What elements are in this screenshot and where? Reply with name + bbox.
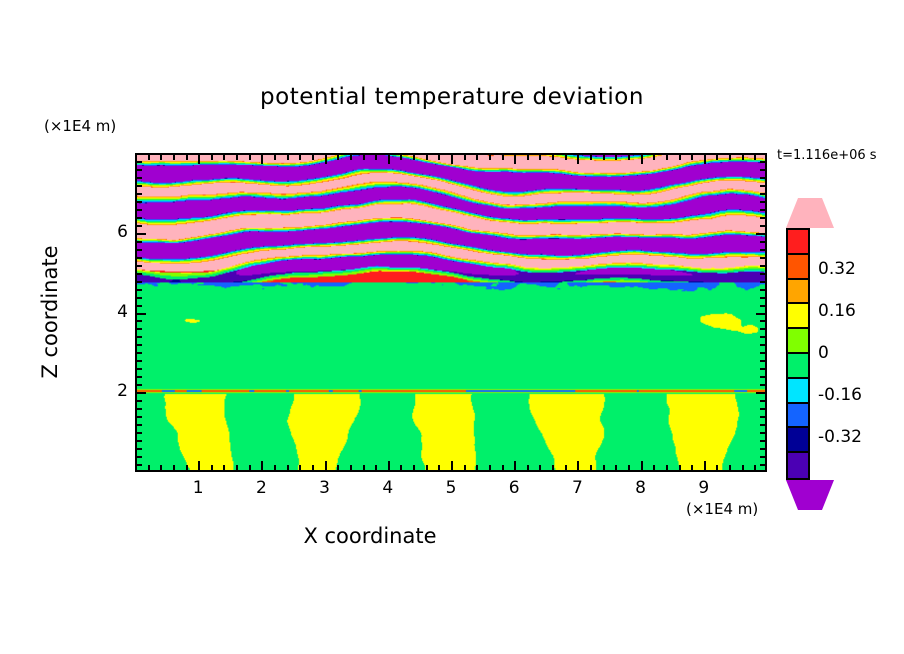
x-tick-top: [679, 155, 681, 160]
x-tick: [666, 465, 668, 470]
y-tick-right: [760, 360, 765, 362]
x-tick: [502, 465, 504, 470]
x-tick: [464, 465, 466, 470]
x-tick: [325, 461, 327, 470]
x-tick: [552, 465, 554, 470]
x-tick-top: [603, 155, 605, 160]
x-tick: [691, 465, 693, 470]
x-tick-top: [514, 155, 516, 164]
x-tick: [716, 465, 718, 470]
x-tick: [160, 465, 162, 470]
x-tick: [539, 465, 541, 470]
y-tick: [137, 416, 142, 418]
y-tick: [137, 225, 142, 227]
x-tick-label: 2: [241, 478, 281, 498]
y-tick-right: [760, 225, 765, 227]
x-tick: [274, 465, 276, 470]
page-title: potential temperature deviation: [0, 84, 904, 110]
y-tick-right: [760, 352, 765, 354]
x-tick: [148, 465, 150, 470]
y-tick-right: [760, 241, 765, 243]
x-tick-top: [148, 155, 150, 160]
colorbar-over-arrow: [786, 198, 834, 228]
y-tick-right: [760, 265, 765, 267]
y-tick: [137, 281, 142, 283]
y-tick: [137, 217, 142, 219]
x-tick-top: [552, 155, 554, 160]
x-tick: [236, 465, 238, 470]
x-tick-top: [489, 155, 491, 160]
x-tick-top: [299, 155, 301, 160]
y-tick-right: [760, 161, 765, 163]
x-tick-top: [363, 155, 365, 160]
y-tick: [137, 209, 142, 211]
x-tick: [590, 465, 592, 470]
contour-plot-area: [135, 153, 767, 472]
x-tick-top: [438, 155, 440, 160]
x-tick: [577, 461, 579, 470]
time-annotation: t=1.116e+06 s: [777, 148, 877, 163]
colorbar-band: [788, 379, 808, 404]
colorbar-under-arrow: [786, 480, 834, 510]
x-tick-top: [160, 155, 162, 160]
y-tick: [137, 161, 142, 163]
x-tick-top: [527, 155, 529, 160]
x-tick-label: 4: [368, 478, 408, 498]
x-tick: [641, 461, 643, 470]
x-tick-top: [666, 155, 668, 160]
x-tick-top: [754, 155, 756, 160]
y-tick: [137, 440, 142, 442]
y-tick: [137, 313, 146, 315]
x-tick-top: [186, 155, 188, 160]
y-tick: [137, 241, 142, 243]
y-tick: [137, 185, 142, 187]
y-tick: [137, 432, 142, 434]
x-tick-top: [198, 155, 200, 164]
y-tick: [137, 360, 142, 362]
x-tick-top: [375, 155, 377, 160]
x-tick: [729, 465, 731, 470]
y-tick: [137, 320, 142, 322]
x-tick: [375, 465, 377, 470]
x-tick-top: [641, 155, 643, 164]
x-tick-top: [464, 155, 466, 160]
colorbar-tick-label: 0.32: [818, 259, 856, 279]
y-tick-right: [760, 257, 765, 259]
x-tick-top: [223, 155, 225, 160]
y-tick-right: [760, 289, 765, 291]
y-tick-right: [760, 217, 765, 219]
y-tick: [137, 392, 146, 394]
y-tick-right: [760, 416, 765, 418]
colorbar-tick-label: 0: [818, 343, 829, 363]
y-tick: [137, 233, 146, 235]
y-tick: [137, 265, 142, 267]
colorbar-tick-label: 0.16: [818, 301, 856, 321]
x-tick: [438, 465, 440, 470]
y-tick: [137, 408, 142, 410]
x-tick-top: [337, 155, 339, 160]
colorbar-band: [788, 453, 808, 478]
colorbar-band: [788, 329, 808, 354]
y-tick-right: [760, 209, 765, 211]
y-tick-right: [760, 408, 765, 410]
x-tick-top: [476, 155, 478, 160]
y-tick-right: [760, 400, 765, 402]
x-tick: [476, 465, 478, 470]
y-tick: [137, 273, 142, 275]
y-tick-right: [760, 384, 765, 386]
x-tick-top: [742, 155, 744, 160]
x-tick-label: 3: [305, 478, 345, 498]
y-tick-right: [760, 464, 765, 466]
colorbar-band: [788, 255, 808, 280]
y-tick-right: [760, 177, 765, 179]
y-tick-right: [760, 424, 765, 426]
y-tick-right: [760, 456, 765, 458]
colorbar-band: [788, 230, 808, 255]
x-tick-top: [565, 155, 567, 160]
y-tick-right: [760, 376, 765, 378]
x-tick: [249, 465, 251, 470]
x-tick-top: [173, 155, 175, 160]
x-axis-title: X coordinate: [0, 524, 740, 548]
x-tick-top: [577, 155, 579, 164]
colorbar-band: [788, 428, 808, 453]
x-tick: [653, 465, 655, 470]
y-tick-right: [760, 273, 765, 275]
x-tick: [400, 465, 402, 470]
y-tick-right: [760, 344, 765, 346]
y-axis-title: Z coordinate: [38, 202, 62, 422]
x-tick: [754, 465, 756, 470]
x-tick: [173, 465, 175, 470]
x-tick: [679, 465, 681, 470]
y-tick-right: [760, 249, 765, 251]
x-tick: [451, 461, 453, 470]
y-tick-right: [756, 233, 765, 235]
x-tick-label: 5: [431, 478, 471, 498]
colorbar-band: [788, 354, 808, 379]
y-tick-right: [760, 336, 765, 338]
y-tick-right: [760, 440, 765, 442]
y-tick-right: [760, 169, 765, 171]
x-tick-top: [312, 155, 314, 160]
y-tick: [137, 193, 142, 195]
x-tick-top: [413, 155, 415, 160]
x-tick-label: 9: [684, 478, 724, 498]
x-tick-top: [388, 155, 390, 164]
x-tick: [628, 465, 630, 470]
x-tick: [603, 465, 605, 470]
x-tick: [388, 461, 390, 470]
x-tick: [413, 465, 415, 470]
y-tick-right: [756, 392, 765, 394]
y-tick-right: [760, 448, 765, 450]
x-axis-unit-label: (×1E4 m): [686, 500, 758, 518]
y-tick: [137, 384, 142, 386]
y-tick-label: 6: [88, 222, 128, 242]
x-tick: [211, 465, 213, 470]
y-tick-right: [760, 305, 765, 307]
colorbar-tick-label: -0.16: [818, 385, 862, 405]
y-tick-right: [760, 281, 765, 283]
x-tick-top: [400, 155, 402, 160]
x-tick: [527, 465, 529, 470]
y-tick: [137, 424, 142, 426]
y-tick: [137, 289, 142, 291]
x-tick: [350, 465, 352, 470]
temperature-deviation-field: [137, 155, 765, 470]
y-tick-right: [760, 320, 765, 322]
y-tick-label: 2: [88, 381, 128, 401]
x-tick: [489, 465, 491, 470]
y-tick: [137, 305, 142, 307]
x-tick-top: [653, 155, 655, 160]
colorbar-band: [788, 304, 808, 329]
y-tick: [137, 177, 142, 179]
y-tick-right: [760, 185, 765, 187]
y-tick: [137, 368, 142, 370]
x-tick: [742, 465, 744, 470]
x-tick: [704, 461, 706, 470]
y-tick: [137, 328, 142, 330]
y-tick: [137, 249, 142, 251]
x-tick-top: [261, 155, 263, 164]
x-tick-top: [211, 155, 213, 160]
x-tick-top: [249, 155, 251, 160]
x-tick-top: [274, 155, 276, 160]
x-tick-top: [426, 155, 428, 160]
x-tick: [514, 461, 516, 470]
colorbar-band: [788, 404, 808, 429]
colorbar: [786, 198, 810, 510]
x-tick-top: [236, 155, 238, 160]
y-tick: [137, 448, 142, 450]
x-tick-top: [451, 155, 453, 164]
x-tick-top: [590, 155, 592, 160]
y-tick: [137, 464, 142, 466]
x-tick-top: [539, 155, 541, 160]
colorbar-bands: [786, 228, 810, 480]
x-tick-top: [729, 155, 731, 160]
y-tick-right: [760, 193, 765, 195]
x-tick-top: [325, 155, 327, 164]
y-tick: [137, 376, 142, 378]
colorbar-tick-label: -0.32: [818, 427, 862, 447]
y-tick-right: [760, 432, 765, 434]
y-tick: [137, 201, 142, 203]
y-tick-right: [760, 328, 765, 330]
x-tick-top: [615, 155, 617, 160]
x-tick-top: [716, 155, 718, 160]
x-tick: [615, 465, 617, 470]
x-tick-top: [704, 155, 706, 164]
x-tick: [287, 465, 289, 470]
y-tick-right: [760, 201, 765, 203]
x-tick-top: [628, 155, 630, 160]
x-tick: [223, 465, 225, 470]
colorbar-band: [788, 280, 808, 305]
y-tick-right: [756, 313, 765, 315]
y-tick: [137, 169, 142, 171]
y-tick-label: 4: [88, 302, 128, 322]
x-tick-label: 7: [557, 478, 597, 498]
y-tick: [137, 352, 142, 354]
y-tick-right: [760, 368, 765, 370]
x-tick-top: [691, 155, 693, 160]
x-tick-label: 8: [621, 478, 661, 498]
x-tick: [312, 465, 314, 470]
y-tick: [137, 344, 142, 346]
y-tick: [137, 257, 142, 259]
y-tick: [137, 336, 142, 338]
x-tick-label: 6: [494, 478, 534, 498]
y-tick: [137, 297, 142, 299]
x-tick: [186, 465, 188, 470]
x-tick-top: [287, 155, 289, 160]
x-tick: [198, 461, 200, 470]
y-tick-right: [760, 297, 765, 299]
x-tick-label: 1: [178, 478, 218, 498]
y-axis-unit-label: (×1E4 m): [44, 117, 116, 135]
x-tick: [363, 465, 365, 470]
x-tick: [337, 465, 339, 470]
x-tick: [299, 465, 301, 470]
x-tick: [565, 465, 567, 470]
x-tick: [426, 465, 428, 470]
x-tick-top: [350, 155, 352, 160]
y-tick: [137, 456, 142, 458]
x-tick-top: [502, 155, 504, 160]
x-tick: [261, 461, 263, 470]
y-tick: [137, 400, 142, 402]
